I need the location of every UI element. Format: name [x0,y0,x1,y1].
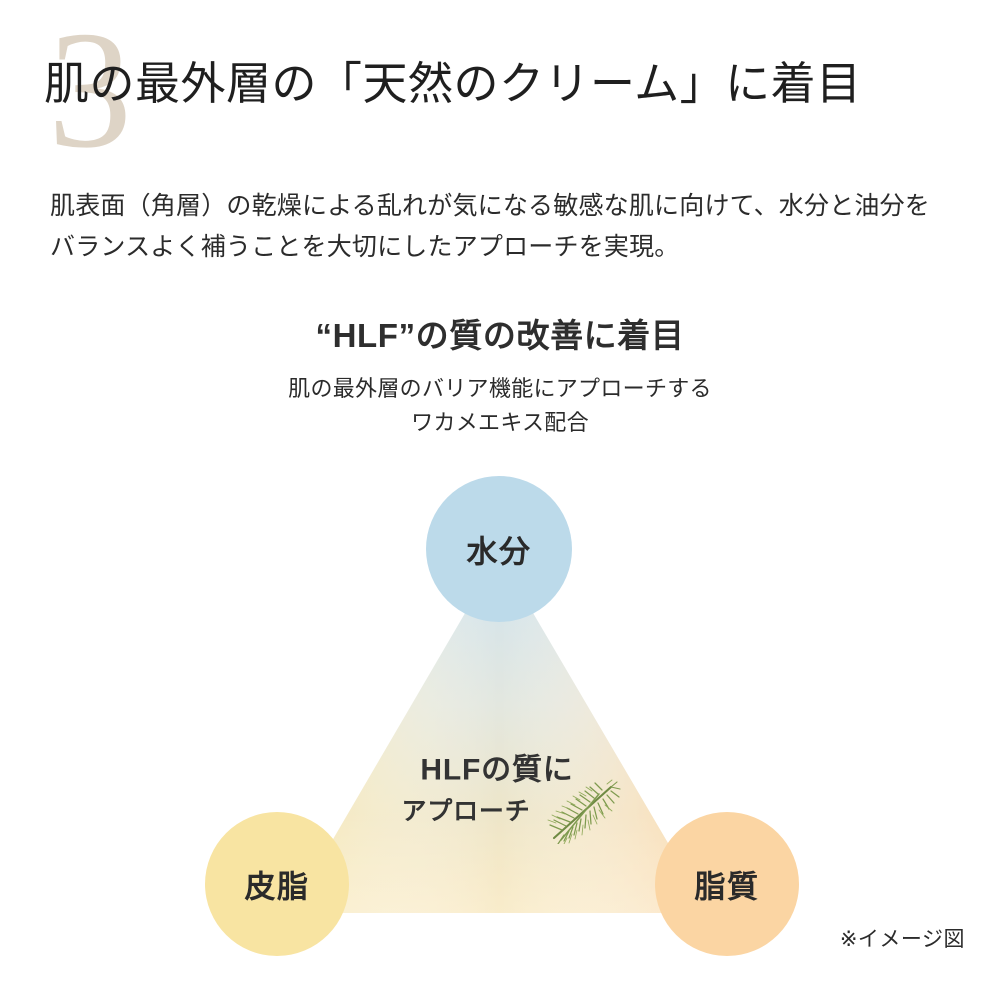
subheading-title: “HLF”の質の改善に着目 [0,315,1000,358]
infographic-page: 3 肌の最外層の「天然のクリーム」に着目 肌表面（角層）の乾燥による乱れが気にな… [0,0,1000,1000]
wakame-seaweed-icon [541,778,623,844]
lead-paragraph-line-1: 肌表面（角層）の乾燥による乱れが気になる敏感な肌に向けて、水分と油分を [50,186,960,227]
header-section: 3 肌の最外層の「天然のクリーム」に着目 [0,0,1000,175]
node-label-water: 水分 [467,527,532,572]
lead-paragraph: 肌表面（角層）の乾燥による乱れが気になる敏感な肌に向けて、水分と油分を バランス… [50,186,960,267]
subheading-line-1: 肌の最外層のバリア機能にアプローチする [0,372,1000,406]
image-disclaimer-footnote: ※イメージ図 [840,923,965,953]
hlf-triangle-diagram: 水分 皮脂 脂質 HLFの質に アプローチ [0,460,1000,960]
subheading-line-2: ワカメエキス配合 [0,406,1000,440]
page-title: 肌の最外層の「天然のクリーム」に着目 [44,56,862,112]
lead-paragraph-line-2: バランスよく補うことを大切にしたアプローチを実現。 [50,227,960,268]
node-label-sebum: 皮脂 [245,862,310,907]
subheading-section: “HLF”の質の改善に着目 肌の最外層のバリア機能にアプローチする ワカメエキス… [0,315,1000,440]
node-label-lipid: 脂質 [695,862,760,907]
